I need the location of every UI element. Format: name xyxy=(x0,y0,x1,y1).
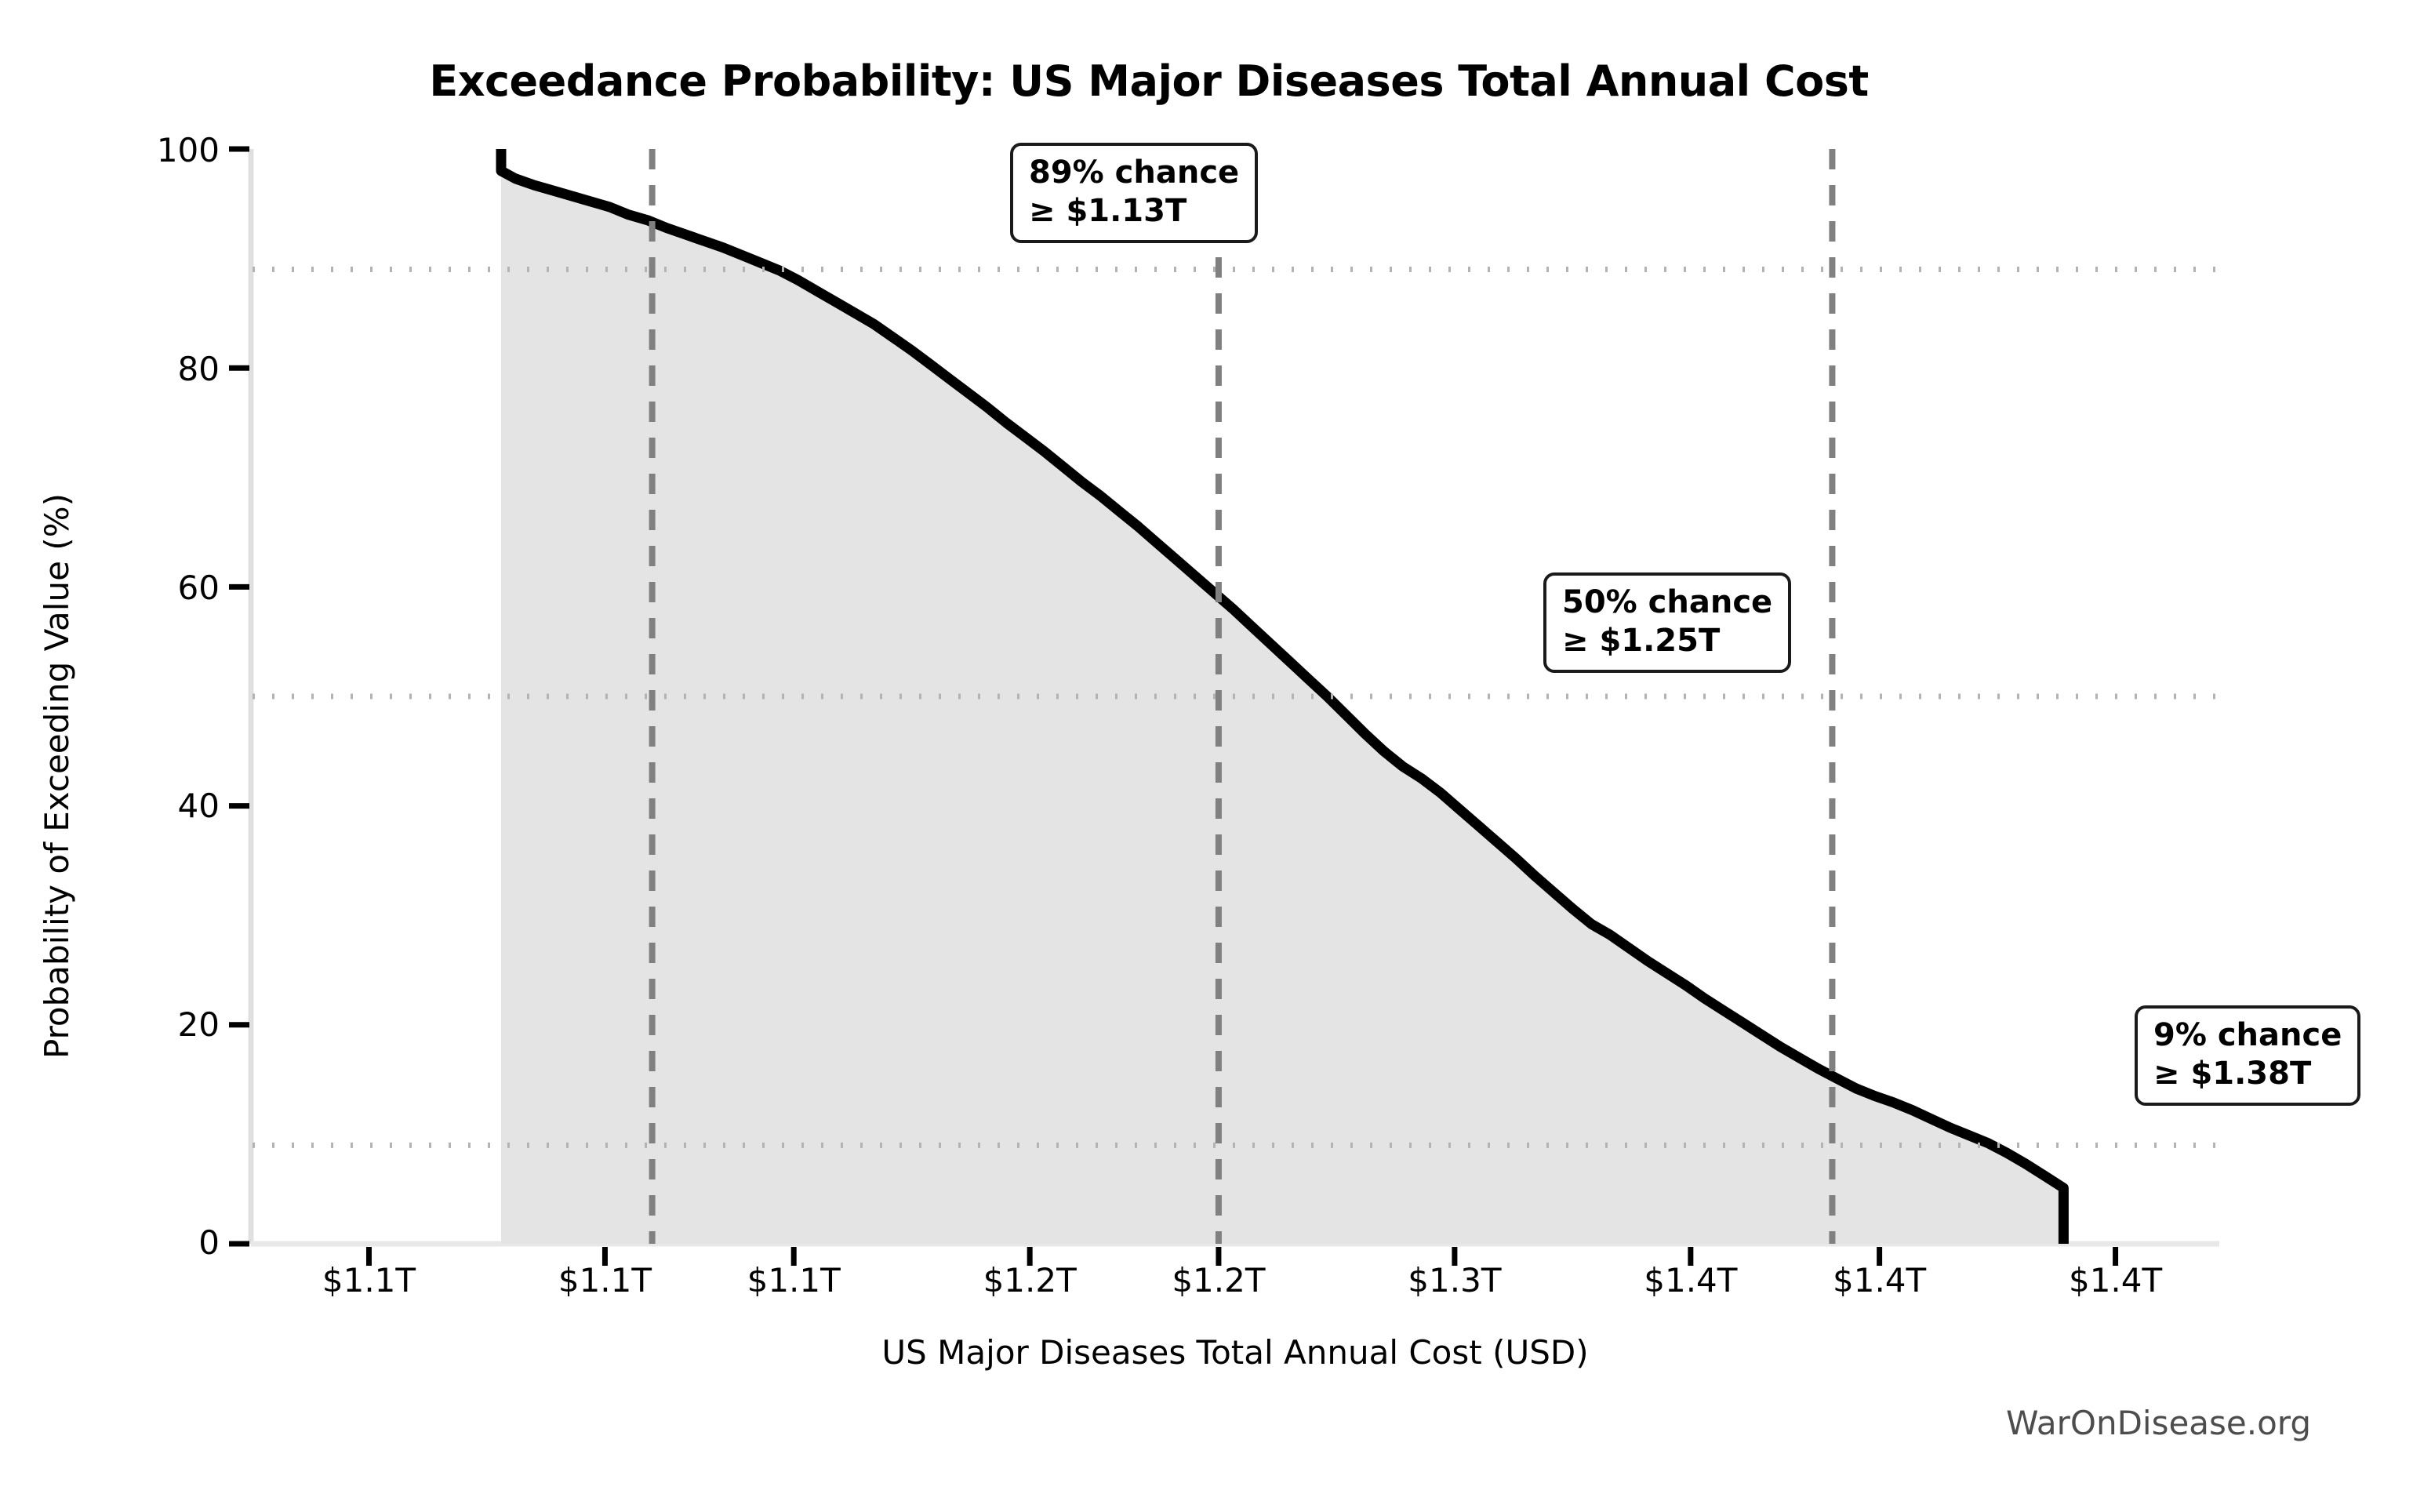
y-tick-label: 60 xyxy=(71,569,220,607)
x-axis-label: US Major Diseases Total Annual Cost (USD… xyxy=(251,1333,2219,1372)
y-axis-label: Probability of Exceeding Value (%) xyxy=(38,493,76,1059)
watermark-text: WarOnDisease.org xyxy=(2006,1404,2311,1442)
y-tick-label: 0 xyxy=(71,1223,220,1262)
annotation-9-chance: 9% chance ≥ $1.38T xyxy=(2135,1005,2360,1106)
chart-figure: Exceedance Probability: US Major Disease… xyxy=(0,0,2413,1512)
y-tick-label: 40 xyxy=(71,787,220,825)
x-tick-label: $1.3T xyxy=(1353,1261,1557,1299)
x-tick-label: $1.4T xyxy=(1778,1261,1982,1299)
x-tick-label: $1.1T xyxy=(503,1261,707,1299)
y-tick-label: 100 xyxy=(71,131,220,169)
x-tick-label: $1.1T xyxy=(267,1261,471,1299)
annotation-line-2: ≥ $1.25T xyxy=(1562,622,1772,660)
y-tick-label: 80 xyxy=(71,350,220,388)
y-tick-label: 20 xyxy=(71,1005,220,1044)
annotation-line-2: ≥ $1.38T xyxy=(2153,1055,2342,1093)
annotation-line-1: 50% chance xyxy=(1562,583,1772,622)
annotation-50-chance: 50% chance ≥ $1.25T xyxy=(1543,572,1791,673)
y-tick-labels: 100 80 60 40 20 0 xyxy=(67,0,220,1512)
annotation-line-1: 9% chance xyxy=(2153,1016,2342,1055)
annotation-line-2: ≥ $1.13T xyxy=(1029,192,1239,231)
x-tick-label: $1.4T xyxy=(2014,1261,2218,1299)
x-tick-label: $1.2T xyxy=(1117,1261,1321,1299)
x-tick-label: $1.2T xyxy=(928,1261,1132,1299)
x-tick-label: $1.1T xyxy=(692,1261,896,1299)
annotation-89-chance: 89% chance ≥ $1.13T xyxy=(1010,143,1258,243)
x-tick-label: $1.4T xyxy=(1589,1261,1793,1299)
annotation-line-1: 89% chance xyxy=(1029,154,1239,192)
